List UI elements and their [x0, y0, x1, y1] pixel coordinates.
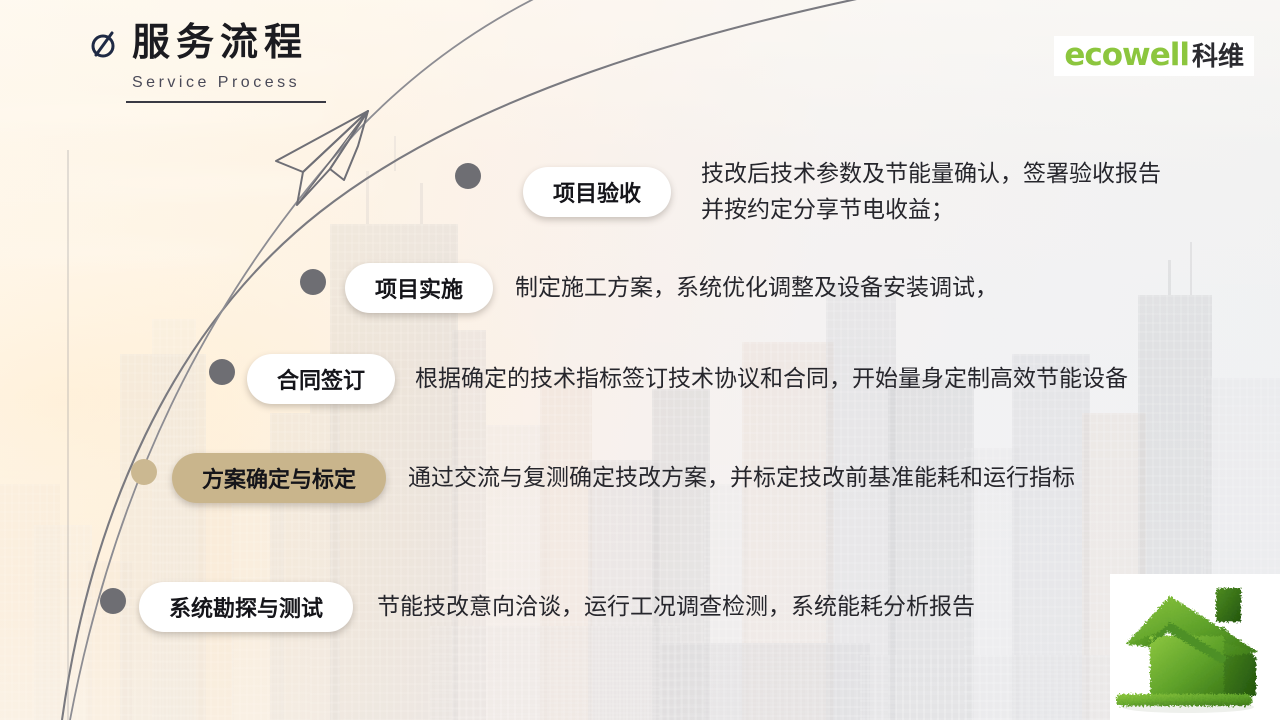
process-step-row: 合同签订 根据确定的技术指标签订技术协议和合同，开始量身定制高效节能设备 [247, 354, 1128, 404]
step-description-line: 并按约定分享节电收益； [701, 192, 1161, 228]
step-description: 制定施工方案，系统优化调整及设备安装调试， [515, 270, 998, 306]
step-dot-marker [100, 588, 126, 614]
step-label-pill-plan-confirmation[interactable]: 方案确定与标定 [172, 453, 386, 503]
process-step-row: 方案确定与标定 通过交流与复测确定技改方案，并标定技改前基准能耗和运行指标 [172, 453, 1075, 503]
step-description-line: 技改后技术参数及节能量确认，签署验收报告 [701, 156, 1161, 192]
step-description: 技改后技术参数及节能量确认，签署验收报告 并按约定分享节电收益； [701, 156, 1161, 227]
step-label-pill-system-survey-testing[interactable]: 系统勘探与测试 [139, 582, 353, 632]
step-label-pill-project-implementation[interactable]: 项目实施 [345, 263, 493, 313]
slide-canvas: 服务流程 Service Process ecowell 科维 项目验收 技改后… [0, 0, 1280, 720]
step-dot-marker [455, 163, 481, 189]
step-dot-marker [131, 459, 157, 485]
step-label-pill-project-acceptance[interactable]: 项目验收 [523, 167, 671, 217]
process-step-row: 项目实施 制定施工方案，系统优化调整及设备安装调试， [345, 263, 998, 313]
step-description: 通过交流与复测确定技改方案，并标定技改前基准能耗和运行指标 [408, 460, 1075, 496]
process-step-row: 项目验收 技改后技术参数及节能量确认，签署验收报告 并按约定分享节电收益； [523, 156, 1161, 227]
green-grass-house-image [1110, 574, 1280, 720]
step-description: 节能技改意向洽谈，运行工况调查检测，系统能耗分析报告 [377, 589, 975, 625]
process-step-row: 系统勘探与测试 节能技改意向洽谈，运行工况调查检测，系统能耗分析报告 [139, 582, 975, 632]
step-label-pill-contract-signing[interactable]: 合同签订 [247, 354, 395, 404]
step-description: 根据确定的技术指标签订技术协议和合同，开始量身定制高效节能设备 [415, 361, 1128, 397]
process-steps: 项目验收 技改后技术参数及节能量确认，签署验收报告 并按约定分享节电收益； 项目… [0, 0, 1280, 720]
step-dot-marker [209, 359, 235, 385]
step-dot-marker [300, 269, 326, 295]
